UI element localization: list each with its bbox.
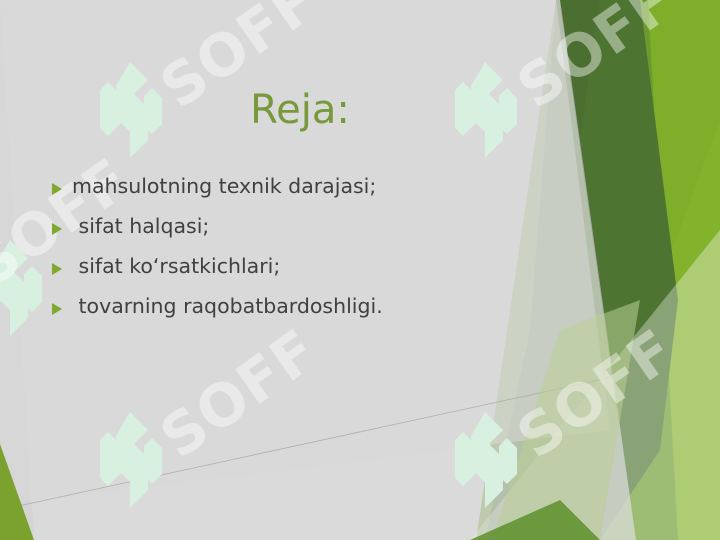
triangle-bullet-icon xyxy=(52,292,72,324)
list-item-label: mahsulotning texnik darajasi; xyxy=(72,172,522,200)
slide-content: Reja: mahsulotning texnik darajasi; sifa… xyxy=(0,0,720,540)
triangle-bullet-icon xyxy=(52,252,72,284)
presentation-slide: SOFF SOFF SOFF SOFF SOFF Reja: mahsulotn… xyxy=(0,0,720,540)
list-item-label: sifat halqasi; xyxy=(72,212,522,240)
bullet-list: mahsulotning texnik darajasi; sifat halq… xyxy=(52,172,522,332)
list-item: sifat halqasi; xyxy=(52,212,522,252)
list-item: mahsulotning texnik darajasi; xyxy=(52,172,522,212)
triangle-bullet-icon xyxy=(52,212,72,244)
list-item: tovarning raqobatbardoshligi. xyxy=(52,292,522,332)
page-title: Reja: xyxy=(60,88,540,132)
list-item-label: tovarning raqobatbardoshligi. xyxy=(72,292,522,320)
triangle-bullet-icon xyxy=(52,172,72,204)
list-item: sifat koʻrsatkichlari; xyxy=(52,252,522,292)
list-item-label: sifat koʻrsatkichlari; xyxy=(72,252,522,280)
